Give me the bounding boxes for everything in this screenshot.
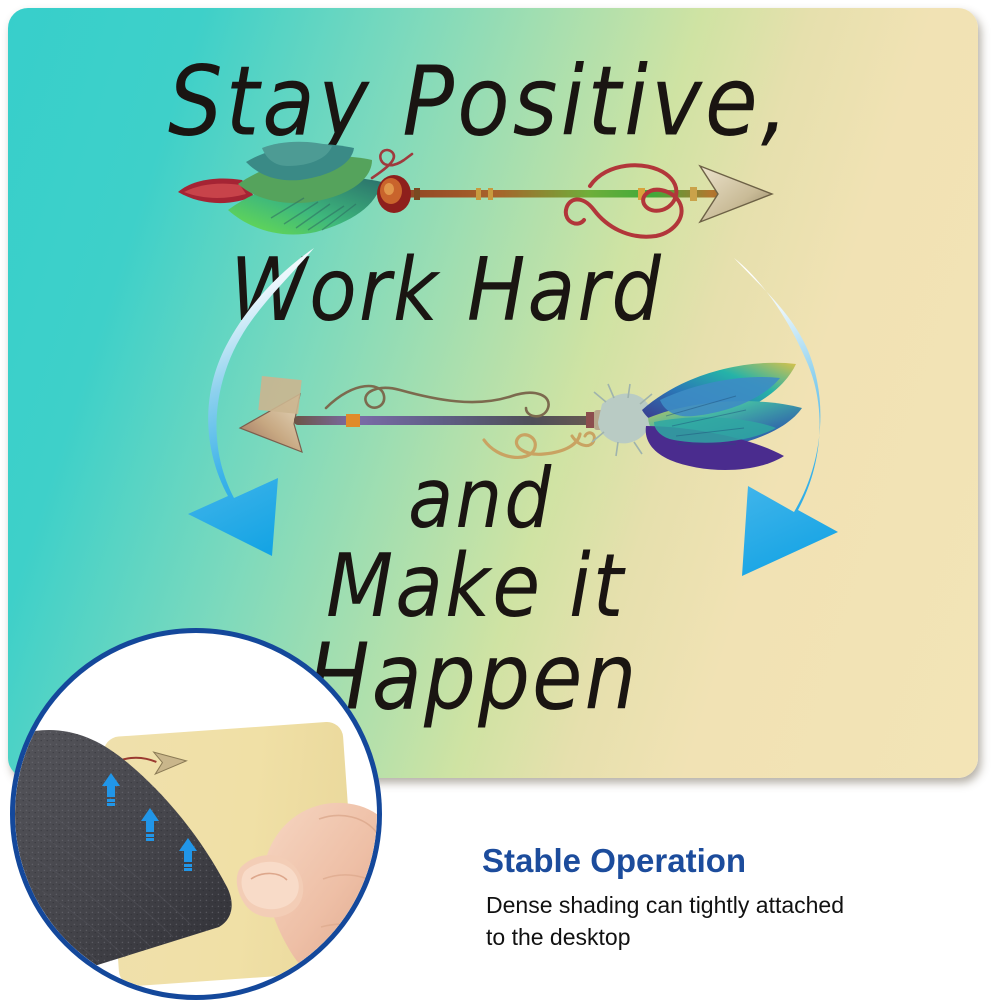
grip-arrow-icon-1 (101, 773, 121, 807)
grip-arrow-icon-2 (140, 808, 160, 842)
curved-down-arrow-right-icon (698, 256, 888, 586)
quote-line-5: Happen (308, 624, 638, 730)
quote-line-3: and (408, 451, 553, 547)
stable-operation-detail-inset: ed (10, 628, 382, 1000)
detail-inset-clip: ed (15, 633, 377, 995)
caption-line-1: Dense shading can tightly attached (486, 889, 982, 922)
boho-arrow-green-feathers-icon (176, 140, 786, 250)
curved-down-arrow-left-icon (186, 246, 376, 558)
grip-arrow-icon-3 (178, 838, 198, 872)
caption-title: Stable Operation (482, 844, 982, 879)
caption-block: Stable Operation Dense shading can tight… (482, 844, 982, 954)
caption-line-2: to the desktop (486, 921, 982, 954)
hand-lifting-pad (211, 759, 377, 989)
